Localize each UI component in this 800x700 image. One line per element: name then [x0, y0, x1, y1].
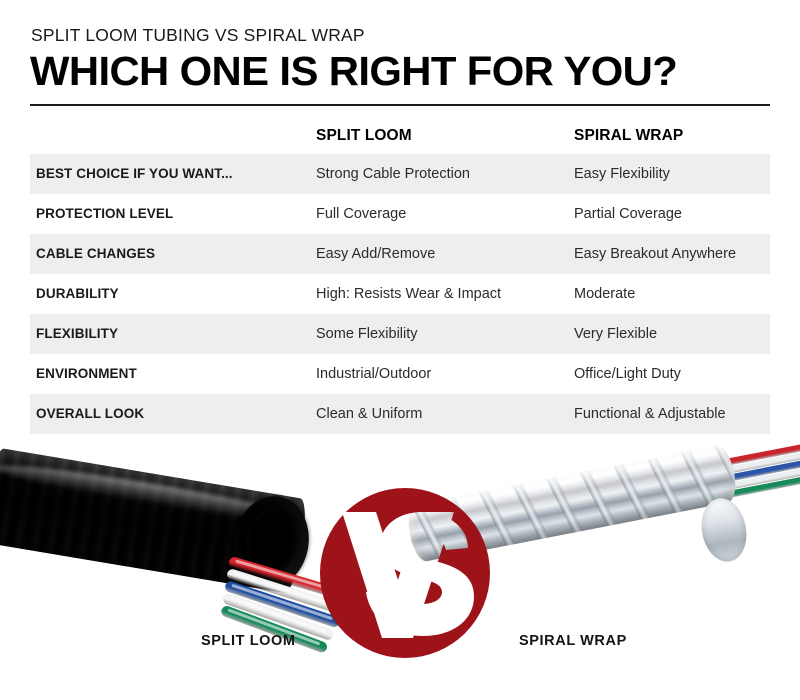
row-feature-cell: PROTECTION LEVEL [30, 205, 316, 223]
row-split-loom-cell: Clean & Uniform [316, 405, 574, 423]
table-row: CABLE CHANGES Easy Add/Remove Easy Break… [30, 234, 770, 274]
split-loom-product-image [0, 447, 320, 649]
feature-label: ENVIRONMENT [36, 366, 137, 381]
kicker-text: SPLIT LOOM TUBING VS SPIRAL WRAP [31, 26, 770, 45]
feature-label: OVERALL LOOK [36, 406, 144, 421]
table-header-spiral-wrap: SPIRAL WRAP [574, 127, 764, 145]
table-header-row: SPLIT LOOM SPIRAL WRAP [30, 118, 770, 154]
row-split-loom-cell: Some Flexibility [316, 325, 574, 343]
table-header-split-loom: SPLIT LOOM [316, 127, 574, 145]
row-split-loom-cell: Strong Cable Protection [316, 165, 574, 183]
header-divider [30, 104, 770, 106]
row-split-loom-cell: Easy Add/Remove [316, 245, 574, 263]
row-feature-cell: ENVIRONMENT [30, 365, 316, 383]
row-split-loom-cell: High: Resists Wear & Impact [316, 285, 574, 303]
table-row: FLEXIBILITY Some Flexibility Very Flexib… [30, 314, 770, 354]
row-feature-cell: CABLE CHANGES [30, 245, 316, 263]
feature-label: PROTECTION LEVEL [36, 206, 173, 221]
row-feature-cell: BEST CHOICE IF YOU WANT... [30, 165, 316, 183]
row-spiral-wrap-cell: Very Flexible [574, 325, 764, 343]
row-feature-cell: DURABILITY [30, 285, 316, 303]
row-split-loom-cell: Industrial/Outdoor [316, 365, 574, 383]
page-title: WHICH ONE IS RIGHT FOR YOU? [30, 51, 785, 92]
feature-label: BEST CHOICE IF YOU WANT... [36, 166, 233, 181]
row-split-loom-cell: Full Coverage [316, 205, 574, 223]
row-spiral-wrap-cell: Easy Breakout Anywhere [574, 245, 764, 263]
row-spiral-wrap-cell: Partial Coverage [574, 205, 764, 223]
page-header: SPLIT LOOM TUBING VS SPIRAL WRAP WHICH O… [0, 0, 800, 92]
feature-label: FLEXIBILITY [36, 326, 118, 341]
row-spiral-wrap-cell: Office/Light Duty [574, 365, 764, 383]
vs-circle [320, 488, 490, 658]
table-row: BEST CHOICE IF YOU WANT... Strong Cable … [30, 154, 770, 194]
spiral-wrap-caption: SPIRAL WRAP [519, 633, 627, 649]
row-spiral-wrap-cell: Moderate [574, 285, 764, 303]
row-feature-cell: FLEXIBILITY [30, 325, 316, 343]
table-row: ENVIRONMENT Industrial/Outdoor Office/Li… [30, 354, 770, 394]
table-row: OVERALL LOOK Clean & Uniform Functional … [30, 394, 770, 434]
table-row: DURABILITY High: Resists Wear & Impact M… [30, 274, 770, 314]
split-loom-caption: SPLIT LOOM [201, 633, 296, 649]
feature-label: DURABILITY [36, 286, 119, 301]
row-spiral-wrap-cell: Easy Flexibility [574, 165, 764, 183]
product-photo-band: VS [0, 444, 800, 700]
row-spiral-wrap-cell: Functional & Adjustable [574, 405, 764, 423]
comparison-table: SPLIT LOOM SPIRAL WRAP BEST CHOICE IF YO… [30, 118, 770, 434]
row-feature-cell: OVERALL LOOK [30, 405, 316, 423]
table-row: PROTECTION LEVEL Full Coverage Partial C… [30, 194, 770, 234]
feature-label: CABLE CHANGES [36, 246, 155, 261]
vs-badge [318, 486, 492, 660]
